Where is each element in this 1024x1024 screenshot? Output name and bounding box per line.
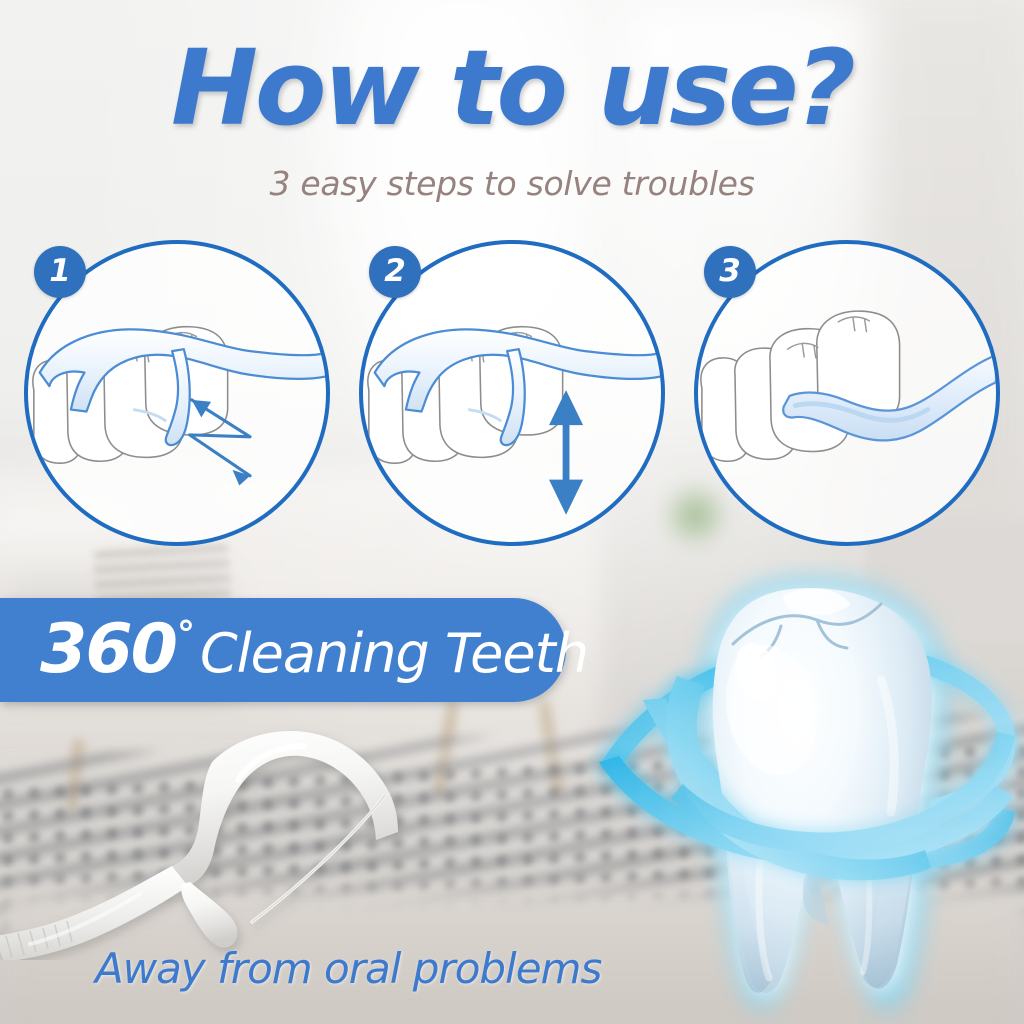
- step-badge-1: 1: [34, 246, 86, 298]
- steps-row: 1: [0, 240, 1024, 552]
- step-badge-3: 3: [704, 246, 756, 298]
- step-1-number: 1: [49, 256, 71, 287]
- degree-symbol: °: [177, 617, 195, 653]
- step-badge-2: 2: [369, 246, 421, 298]
- infographic-stage: How to use? 3 easy steps to solve troubl…: [0, 0, 1024, 1024]
- page-title: How to use?: [0, 36, 1024, 140]
- glossy-molar-with-orbit-rings: [585, 560, 1024, 1024]
- step-3: 3: [694, 240, 1000, 546]
- banner-text: 360 ° Cleaning Teeth: [0, 616, 588, 684]
- cleaning-banner: 360 ° Cleaning Teeth: [0, 598, 566, 702]
- step-1: 1: [24, 240, 330, 546]
- dental-floss-pick: [0, 700, 460, 960]
- step-2: 2: [359, 240, 665, 546]
- step-3-number: 3: [719, 256, 741, 287]
- bottom-caption: Away from oral problems: [95, 944, 601, 993]
- banner-number: 360: [40, 616, 176, 684]
- step-2-number: 2: [384, 256, 406, 287]
- banner-label: Cleaning Teeth: [200, 627, 588, 681]
- page-subtitle: 3 easy steps to solve troubles: [0, 164, 1024, 203]
